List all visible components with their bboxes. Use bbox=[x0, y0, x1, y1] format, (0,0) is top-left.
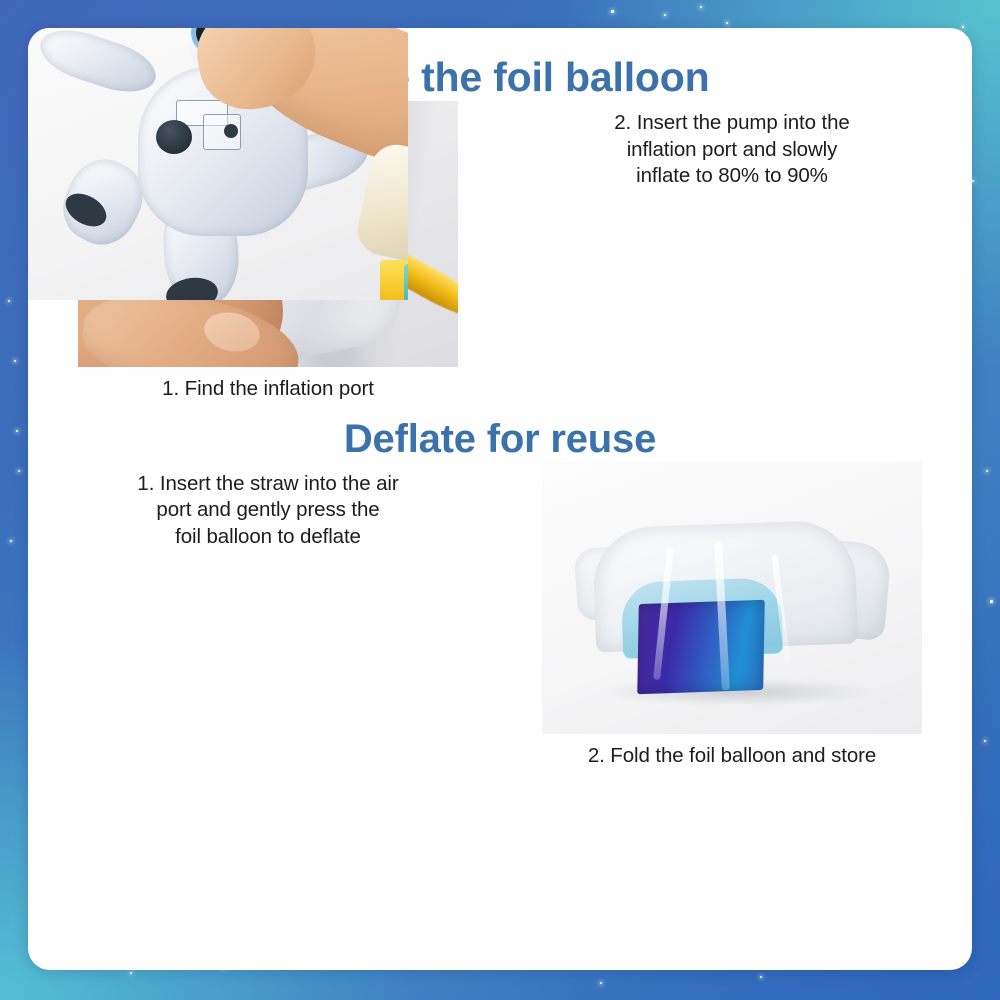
instruction-card: Inflate the foil balloon valve 1. Find t… bbox=[28, 28, 972, 970]
star-dot bbox=[990, 600, 993, 603]
deflate-section-title: Deflate for reuse bbox=[28, 417, 972, 462]
star-dot bbox=[972, 180, 974, 182]
caption-step-1-inflate: 1. Find the inflation port bbox=[78, 376, 458, 403]
caption-step-2-deflate: 2. Fold the foil balloon and store bbox=[542, 743, 922, 770]
star-dot bbox=[16, 430, 18, 432]
chest-knob bbox=[224, 124, 238, 138]
photo-pressing-balloon bbox=[28, 28, 408, 300]
deflate-steps-row: 1. Insert the straw into the air port an… bbox=[28, 462, 972, 770]
star-dot bbox=[986, 470, 988, 472]
caption-step-1-deflate: 1. Insert the straw into the air port an… bbox=[78, 471, 458, 551]
star-dot bbox=[664, 14, 666, 16]
star-dot bbox=[700, 6, 702, 8]
star-dot bbox=[14, 360, 16, 362]
star-dot bbox=[18, 470, 20, 472]
chest-patch bbox=[156, 120, 192, 154]
star-dot bbox=[8, 300, 10, 302]
star-dot bbox=[984, 740, 986, 742]
star-dot bbox=[611, 10, 614, 13]
star-dot bbox=[760, 976, 762, 978]
star-dot bbox=[130, 972, 132, 974]
photo-folded-balloon bbox=[542, 462, 922, 734]
deflate-step-1: 1. Insert the straw into the air port an… bbox=[78, 462, 458, 770]
star-dot bbox=[10, 540, 12, 542]
star-dot bbox=[726, 22, 728, 24]
teal-object bbox=[404, 264, 408, 300]
deflate-step-2: 2. Fold the foil balloon and store bbox=[542, 462, 922, 770]
star-dot bbox=[600, 982, 602, 984]
caption-step-2-inflate: 2. Insert the pump into the inflation po… bbox=[542, 110, 922, 190]
star-dot bbox=[962, 26, 964, 28]
astronaut-left-arm bbox=[34, 28, 162, 101]
inflate-step-2: 2. Insert the pump into the inflation po… bbox=[542, 101, 922, 403]
